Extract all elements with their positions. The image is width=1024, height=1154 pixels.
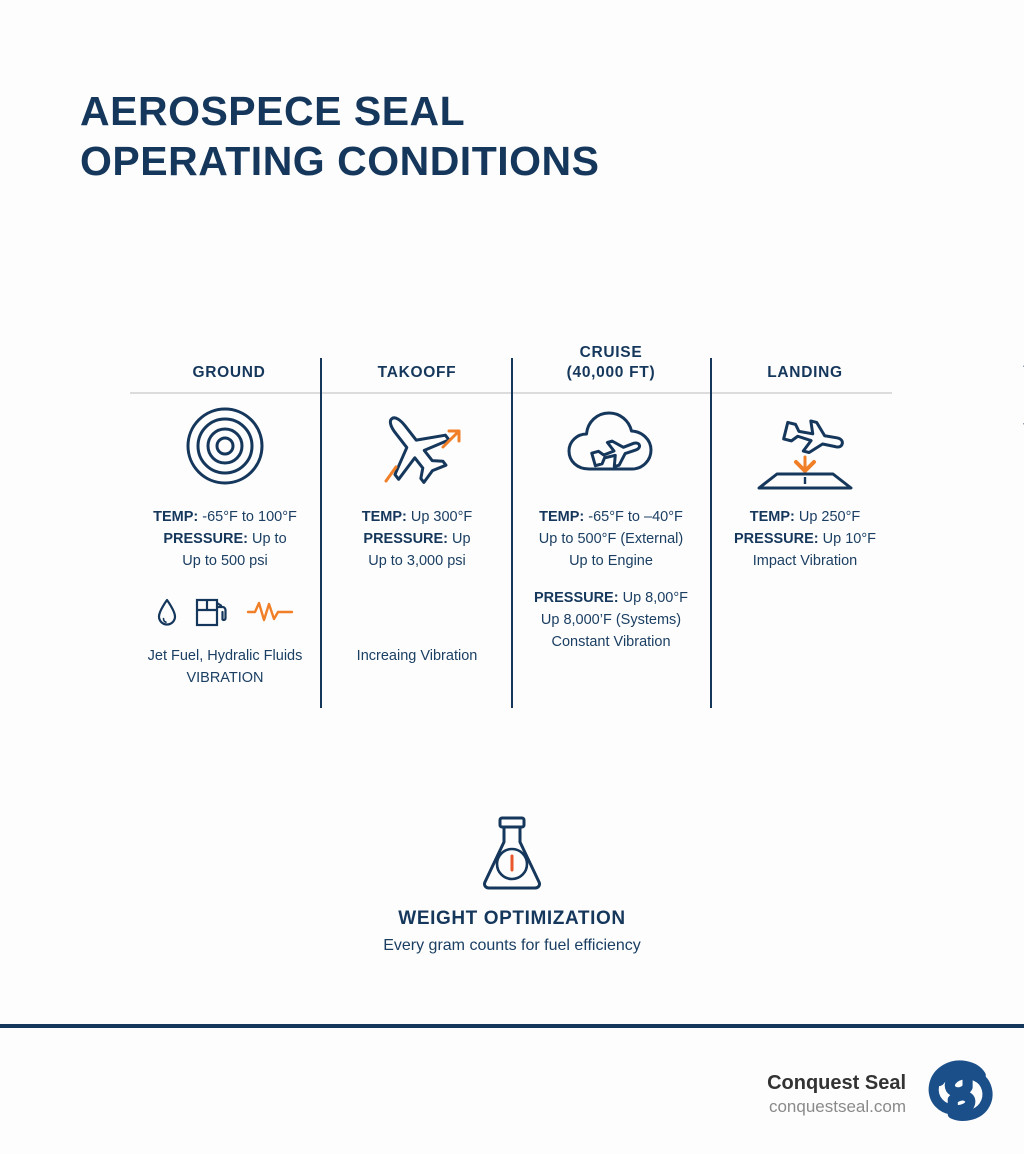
droplet-icon — [156, 597, 178, 627]
spec-value: Up 10°F — [819, 531, 876, 547]
phase-header-ground-line1: GROUND — [130, 363, 328, 382]
spec-row: PRESSURE: Up 8,00°F — [512, 587, 710, 609]
spec-value: -65°F to –40°F — [584, 509, 683, 525]
title-line-2: OPERATING CONDITIONS — [80, 136, 840, 186]
weight-optimization-block: WEIGHT OPTIMIZATION Every gram counts fo… — [0, 812, 1024, 955]
phase-column-takeoff: TEMP: Up 300°F PRESSURE: Up Up to 3,000 … — [322, 400, 512, 668]
spec-value: Constant Vibration — [551, 634, 670, 650]
spec-row: TEMP: -65°F to 100°F — [130, 506, 320, 528]
note-ground: Jet Fuel, Hydralic Fluids VIBRATION — [130, 646, 320, 690]
spec-value: Up 8,000’F (Systems) — [541, 612, 681, 628]
spec-label: TEMP: — [362, 509, 407, 525]
note-takeoff: Increaing Vibration — [322, 646, 512, 668]
spec-value: Up to 500 psi — [182, 553, 267, 569]
spec-value: Up to 3,000 psi — [368, 553, 466, 569]
weight-title: WEIGHT OPTIMIZATION — [0, 908, 1024, 930]
spec-gap — [512, 572, 710, 587]
spec-row: Constant Vibration — [512, 631, 710, 653]
spec-label: TEMP: — [750, 509, 795, 525]
airplane-landing-icon — [710, 400, 900, 492]
conquest-s-logo — [920, 1056, 998, 1134]
spec-row: Up 8,000’F (Systems) — [512, 609, 710, 631]
spec-value: -65°F to 100°F — [198, 509, 297, 525]
spec-row: TEMP: Up 300°F — [322, 506, 512, 528]
ground-sub-icons — [130, 592, 320, 632]
title-line-1: AEROSPECE SEAL — [80, 86, 840, 136]
phase-header-takeoff: TAKOOFF — [322, 363, 512, 382]
phase-headers: GROUND TAKOOFF CRUISE (40,000 FT) LANDIN… — [130, 330, 920, 392]
flask-gauge-icon — [0, 812, 1024, 896]
spec-list-landing: TEMP: Up 250°F PRESSURE: Up 10°F Impact … — [710, 506, 900, 572]
phase-header-landing: LANDING — [710, 363, 900, 382]
page-title: AEROSPECE SEAL OPERATING CONDITIONS — [80, 86, 840, 186]
spec-value: Up — [448, 531, 471, 547]
spec-row: Up to 500°F (External) — [512, 528, 710, 550]
note-line: VIBRATION — [130, 668, 320, 690]
infographic-page: AEROSPECE SEAL OPERATING CONDITIONS GROU… — [0, 0, 1024, 1154]
spec-row: PRESSURE: Up 10°F — [710, 528, 900, 550]
spec-row: Up to 3,000 psi — [322, 550, 512, 572]
spec-value: Up to — [248, 531, 287, 547]
spec-label: TEMP: — [539, 509, 584, 525]
concentric-rings-icon — [130, 400, 320, 492]
spec-row: Up to 500 psi — [130, 550, 320, 572]
chevron-right-icon — [1014, 360, 1024, 430]
phase-column-ground: TEMP: -65°F to 100°F PRESSURE: Up to Up … — [130, 400, 320, 690]
spec-list-cruise: TEMP: -65°F to –40°F Up to 500°F (Extern… — [512, 506, 710, 653]
spec-list-takeoff: TEMP: Up 300°F PRESSURE: Up Up to 3,000 … — [322, 506, 512, 572]
spec-value: Impact Vibration — [753, 553, 858, 569]
spec-row: TEMP: -65°F to –40°F — [512, 506, 710, 528]
spec-label: PRESSURE: — [734, 531, 819, 547]
phase-column-landing: TEMP: Up 250°F PRESSURE: Up 10°F Impact … — [710, 400, 900, 572]
spec-row: PRESSURE: Up — [322, 528, 512, 550]
fuel-pump-icon — [194, 596, 230, 628]
footer-text: Conquest Seal conquestseal.com — [767, 1071, 906, 1118]
brand-name: Conquest Seal — [767, 1071, 906, 1096]
spec-label: PRESSURE: — [163, 531, 248, 547]
spec-row: TEMP: Up 250°F — [710, 506, 900, 528]
phase-timeline: GROUND TAKOOFF CRUISE (40,000 FT) LANDIN… — [130, 330, 950, 710]
spec-row: Up to Engine — [512, 550, 710, 572]
spec-list-ground: TEMP: -65°F to 100°F PRESSURE: Up to Up … — [130, 506, 320, 572]
note-line: Jet Fuel, Hydralic Fluids — [130, 646, 320, 668]
note-line: Increaing Vibration — [322, 646, 512, 668]
phase-header-cruise-line1: CRUISE — [512, 343, 710, 362]
cloud-airplane-icon — [512, 400, 710, 492]
phase-header-cruise: CRUISE (40,000 FT) — [512, 343, 710, 382]
brand-url[interactable]: conquestseal.com — [767, 1096, 906, 1118]
spec-value: Up to 500°F (External) — [539, 531, 683, 547]
spec-value: Up 300°F — [407, 509, 472, 525]
footer-branding: Conquest Seal conquestseal.com — [767, 1056, 998, 1134]
vibration-wave-icon — [246, 598, 294, 626]
spec-label: PRESSURE: — [363, 531, 448, 547]
spec-row: Impact Vibration — [710, 550, 900, 572]
phase-header-landing-line1: LANDING — [710, 363, 900, 382]
weight-subtitle: Every gram counts for fuel efficiency — [0, 937, 1024, 955]
airplane-takeoff-icon — [322, 400, 512, 492]
phase-header-ground: GROUND — [130, 363, 328, 382]
footer-divider — [0, 1024, 1024, 1028]
spec-value: Up to Engine — [569, 553, 653, 569]
phase-header-takeoff-line1: TAKOOFF — [322, 363, 512, 382]
spec-value: Up 250°F — [795, 509, 860, 525]
spec-value: Up 8,00°F — [619, 590, 688, 606]
spec-row: PRESSURE: Up to — [130, 528, 320, 550]
phase-header-cruise-line2: (40,000 FT) — [512, 363, 710, 382]
spec-label: PRESSURE: — [534, 590, 619, 606]
phase-column-cruise: TEMP: -65°F to –40°F Up to 500°F (Extern… — [512, 400, 710, 653]
spec-label: TEMP: — [153, 509, 198, 525]
